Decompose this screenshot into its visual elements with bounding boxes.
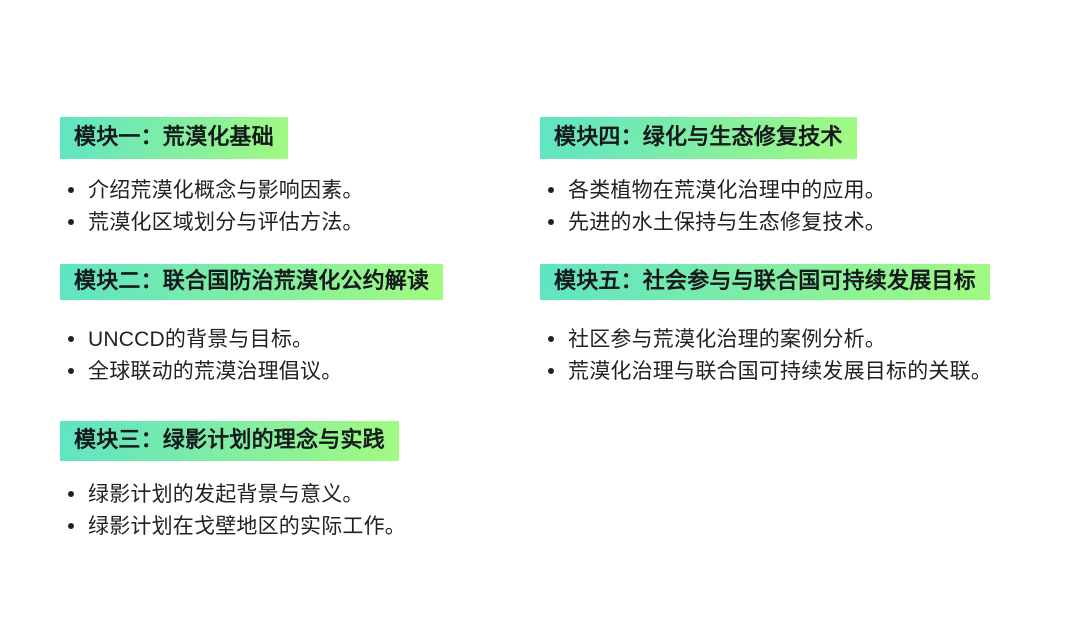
module-card-3: 模块三：绿影计划的理念与实践 绿影计划的发起背景与意义。 绿影计划在戈壁地区的实… — [60, 421, 540, 544]
module-card-2: 模块二：联合国防治荒漠化公约解读 UNCCD的背景与目标。 全球联动的荒漠治理倡… — [60, 264, 540, 389]
bullet-dot-icon — [60, 357, 88, 374]
bullet-dot-icon — [60, 176, 88, 193]
module-3-title: 模块三：绿影计划的理念与实践 — [74, 425, 385, 455]
list-item: 全球联动的荒漠治理倡议。 — [60, 357, 540, 387]
module-card-5: 模块五：社会参与与联合国可持续发展目标 社区参与荒漠化治理的案例分析。 荒漠化治… — [540, 264, 1032, 389]
list-item: 社区参与荒漠化治理的案例分析。 — [540, 325, 1032, 355]
module-4-bullet-list: 各类植物在荒漠化治理中的应用。 先进的水土保持与生态修复技术。 — [540, 159, 1032, 238]
module-card-1: 模块一：荒漠化基础 介绍荒漠化概念与影响因素。 荒漠化区域划分与评估方法。 — [60, 117, 540, 240]
bullet-text: 荒漠化区域划分与评估方法。 — [88, 208, 364, 238]
list-item: 先进的水土保持与生态修复技术。 — [540, 208, 1032, 238]
list-item: 介绍荒漠化概念与影响因素。 — [60, 176, 540, 206]
bullet-dot-icon — [60, 325, 88, 342]
module-4-title-bar: 模块四：绿化与生态修复技术 — [540, 117, 857, 159]
module-columns: 模块一：荒漠化基础 介绍荒漠化概念与影响因素。 荒漠化区域划分与评估方法。 模块… — [0, 0, 1080, 623]
bullet-text: 介绍荒漠化概念与影响因素。 — [88, 176, 364, 206]
list-item: 各类植物在荒漠化治理中的应用。 — [540, 176, 1032, 206]
list-item: UNCCD的背景与目标。 — [60, 325, 540, 355]
module-3-bullet-list: 绿影计划的发起背景与意义。 绿影计划在戈壁地区的实际工作。 — [60, 461, 540, 542]
module-5-title-bar: 模块五：社会参与与联合国可持续发展目标 — [540, 264, 990, 300]
bullet-text: 全球联动的荒漠治理倡议。 — [88, 357, 342, 387]
bullet-text: 各类植物在荒漠化治理中的应用。 — [568, 176, 886, 206]
module-2-bullet-list: UNCCD的背景与目标。 全球联动的荒漠治理倡议。 — [60, 300, 540, 387]
bullet-text: 社区参与荒漠化治理的案例分析。 — [568, 325, 886, 355]
module-1-bullet-list: 介绍荒漠化概念与影响因素。 荒漠化区域划分与评估方法。 — [60, 159, 540, 238]
right-column: 模块四：绿化与生态修复技术 各类植物在荒漠化治理中的应用。 先进的水土保持与生态… — [540, 0, 1032, 623]
module-5-bullet-list: 社区参与荒漠化治理的案例分析。 荒漠化治理与联合国可持续发展目标的关联。 — [540, 300, 1032, 387]
list-item: 绿影计划在戈壁地区的实际工作。 — [60, 512, 540, 542]
bullet-text: 绿影计划在戈壁地区的实际工作。 — [88, 512, 406, 542]
module-4-title: 模块四：绿化与生态修复技术 — [554, 122, 843, 152]
module-1-title-bar: 模块一：荒漠化基础 — [60, 117, 288, 159]
module-2-title-bar: 模块二：联合国防治荒漠化公约解读 — [60, 264, 443, 300]
bullet-dot-icon — [60, 208, 88, 225]
bullet-dot-icon — [60, 512, 88, 529]
list-item: 荒漠化治理与联合国可持续发展目标的关联。 — [540, 357, 1032, 387]
module-5-title: 模块五：社会参与与联合国可持续发展目标 — [554, 266, 976, 296]
list-item: 荒漠化区域划分与评估方法。 — [60, 208, 540, 238]
bullet-dot-icon — [540, 176, 568, 193]
slide-canvas: 模块一：荒漠化基础 介绍荒漠化概念与影响因素。 荒漠化区域划分与评估方法。 模块… — [0, 0, 1080, 623]
list-item: 绿影计划的发起背景与意义。 — [60, 480, 540, 510]
bullet-dot-icon — [540, 325, 568, 342]
module-2-title: 模块二：联合国防治荒漠化公约解读 — [74, 266, 429, 296]
module-3-title-bar: 模块三：绿影计划的理念与实践 — [60, 421, 399, 461]
bullet-text: UNCCD的背景与目标。 — [88, 325, 313, 355]
module-card-4: 模块四：绿化与生态修复技术 各类植物在荒漠化治理中的应用。 先进的水土保持与生态… — [540, 117, 1032, 240]
bullet-dot-icon — [540, 208, 568, 225]
module-1-title: 模块一：荒漠化基础 — [74, 122, 274, 152]
left-column: 模块一：荒漠化基础 介绍荒漠化概念与影响因素。 荒漠化区域划分与评估方法。 模块… — [60, 0, 540, 623]
bullet-text: 绿影计划的发起背景与意义。 — [88, 480, 364, 510]
bullet-dot-icon — [60, 480, 88, 497]
bullet-dot-icon — [540, 357, 568, 374]
bullet-text: 先进的水土保持与生态修复技术。 — [568, 208, 886, 238]
bullet-text: 荒漠化治理与联合国可持续发展目标的关联。 — [568, 357, 992, 387]
